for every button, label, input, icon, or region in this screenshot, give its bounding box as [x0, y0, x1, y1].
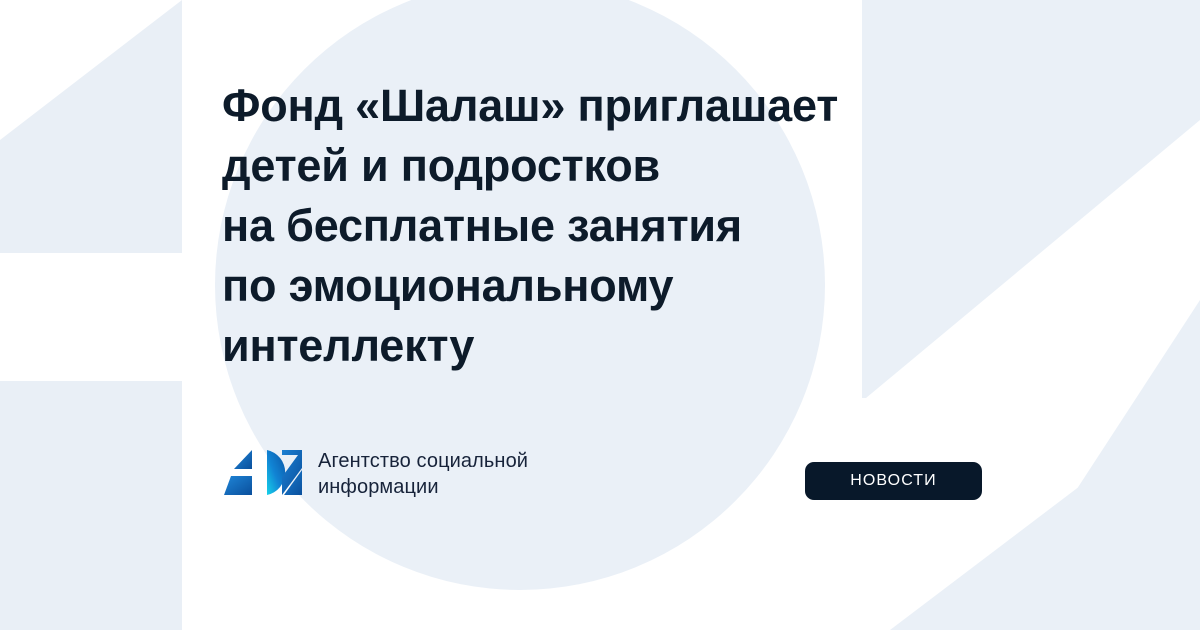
card-content: Фонд «Шалаш» приглашает детей и подростк…	[0, 0, 1200, 630]
asi-logo[interactable]: Агентство социальной информации	[224, 448, 528, 500]
asi-logo-mark-icon	[224, 448, 302, 500]
news-share-card: Фонд «Шалаш» приглашает детей и подростк…	[0, 0, 1200, 630]
status-badge-news[interactable]: НОВОСТИ	[805, 462, 982, 500]
page-title: Фонд «Шалаш» приглашает детей и подростк…	[222, 76, 1022, 376]
asi-logo-wordmark: Агентство социальной информации	[318, 448, 528, 500]
